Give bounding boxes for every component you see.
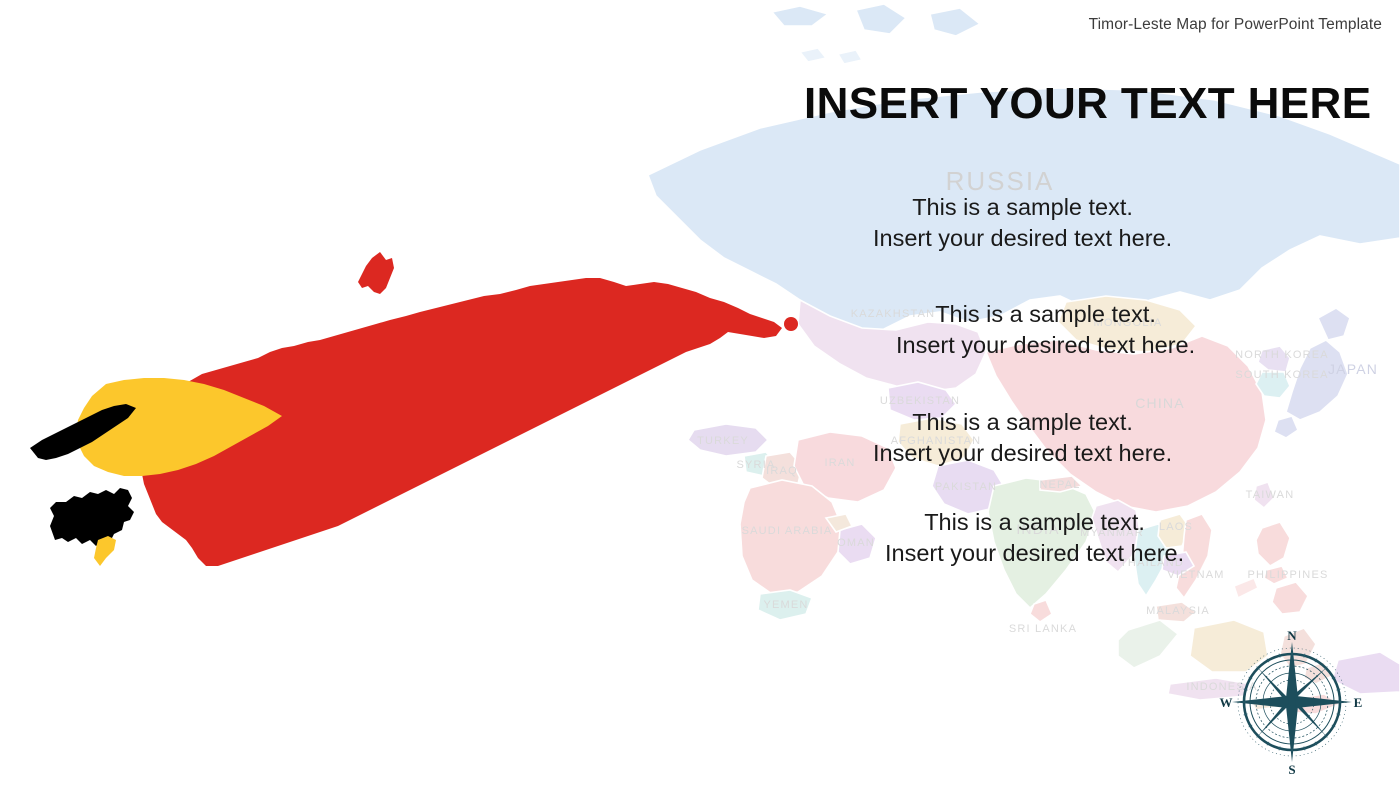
bg-region-severnaya [930, 8, 980, 36]
atauro-island[interactable] [358, 252, 394, 294]
bg-region-palawan [1234, 578, 1258, 598]
bg-country-south-korea [1256, 372, 1290, 398]
bg-label-vietnam: VIETNAM [1167, 569, 1224, 581]
bg-country-north-korea [1258, 346, 1290, 372]
bg-label-uzbekistan: UZBEKISTAN [880, 395, 960, 407]
bg-label-japan: JAPAN [1328, 361, 1378, 377]
text-block-4-line-1: This is a sample text. [885, 507, 1184, 538]
slide-canvas: RUSSIA KAZAKHSTAN MONGOLIA CHINA JAPAN N… [0, 0, 1400, 787]
bg-label-iran: IRAN [824, 457, 855, 469]
bg-country-philippines-visayas [1264, 566, 1288, 584]
text-block-2[interactable]: This is a sample text. Insert your desir… [896, 299, 1195, 361]
page-title[interactable]: INSERT YOUR TEXT HERE [804, 79, 1371, 129]
bg-region-small-isles-a [800, 48, 826, 62]
text-block-3-line-2: Insert your desired text here. [873, 438, 1172, 469]
bg-label-north-korea: NORTH KOREA [1235, 349, 1329, 361]
bg-country-nepal [1040, 476, 1082, 492]
bg-country-philippines-luzon [1256, 522, 1290, 566]
compass-label-south: S [1288, 762, 1295, 776]
bg-region-small-isles-b [838, 50, 862, 64]
bg-country-yemen [758, 590, 812, 620]
bg-label-nepal: NEPAL [1039, 479, 1080, 491]
bg-label-philippines: PHILIPPINES [1247, 569, 1328, 581]
bg-region-arctic-islands [772, 6, 828, 26]
bg-country-japan [1318, 308, 1350, 340]
bg-label-malaysia: MALAYSIA [1146, 605, 1210, 617]
bg-label-taiwan: TAIWAN [1246, 489, 1295, 501]
bg-country-indonesia-sumatra [1118, 620, 1178, 668]
bg-country-oman [838, 524, 876, 564]
text-block-3-line-1: This is a sample text. [873, 407, 1172, 438]
text-block-4[interactable]: This is a sample text. Insert your desir… [885, 507, 1184, 569]
bg-country-japan-kyushu [1274, 416, 1298, 438]
bg-label-pakistan: PAKISTAN [935, 481, 997, 493]
text-block-2-line-1: This is a sample text. [896, 299, 1195, 330]
oecusse-exclave[interactable] [50, 488, 134, 546]
compass-rose: N S E W [1218, 628, 1366, 776]
text-block-4-line-2: Insert your desired text here. [885, 538, 1184, 569]
compass-hub [1288, 698, 1296, 706]
bg-country-taiwan [1254, 482, 1274, 508]
text-block-1[interactable]: This is a sample text. Insert your desir… [873, 192, 1172, 254]
bg-label-oman: OMAN [837, 537, 875, 549]
oecusse-exclave-group[interactable] [50, 488, 134, 566]
text-block-1-line-2: Insert your desired text here. [873, 223, 1172, 254]
header-caption: Timor-Leste Map for PowerPoint Template [1089, 16, 1382, 34]
bg-country-japan-honshu [1286, 340, 1348, 420]
compass-label-east: E [1354, 695, 1363, 710]
bg-country-uae [826, 514, 852, 532]
timor-leste-flag-map[interactable] [20, 240, 820, 585]
text-block-1-line-1: This is a sample text. [873, 192, 1172, 223]
bg-country-malaysia [1156, 602, 1196, 622]
bg-region-novaya-zemlya [856, 4, 906, 34]
bg-label-south-korea: SOUTH KOREA [1235, 369, 1328, 381]
bg-label-yemen: YEMEN [763, 599, 808, 611]
text-block-2-line-2: Insert your desired text here. [896, 330, 1195, 361]
bg-country-sri-lanka [1030, 600, 1052, 622]
compass-label-north: N [1287, 628, 1297, 643]
jaco-island[interactable] [784, 317, 798, 331]
compass-label-west: W [1220, 695, 1233, 710]
bg-country-philippines-mindanao [1272, 582, 1308, 614]
bg-label-sri-lanka: SRI LANKA [1009, 623, 1077, 635]
text-block-3[interactable]: This is a sample text. Insert your desir… [873, 407, 1172, 469]
